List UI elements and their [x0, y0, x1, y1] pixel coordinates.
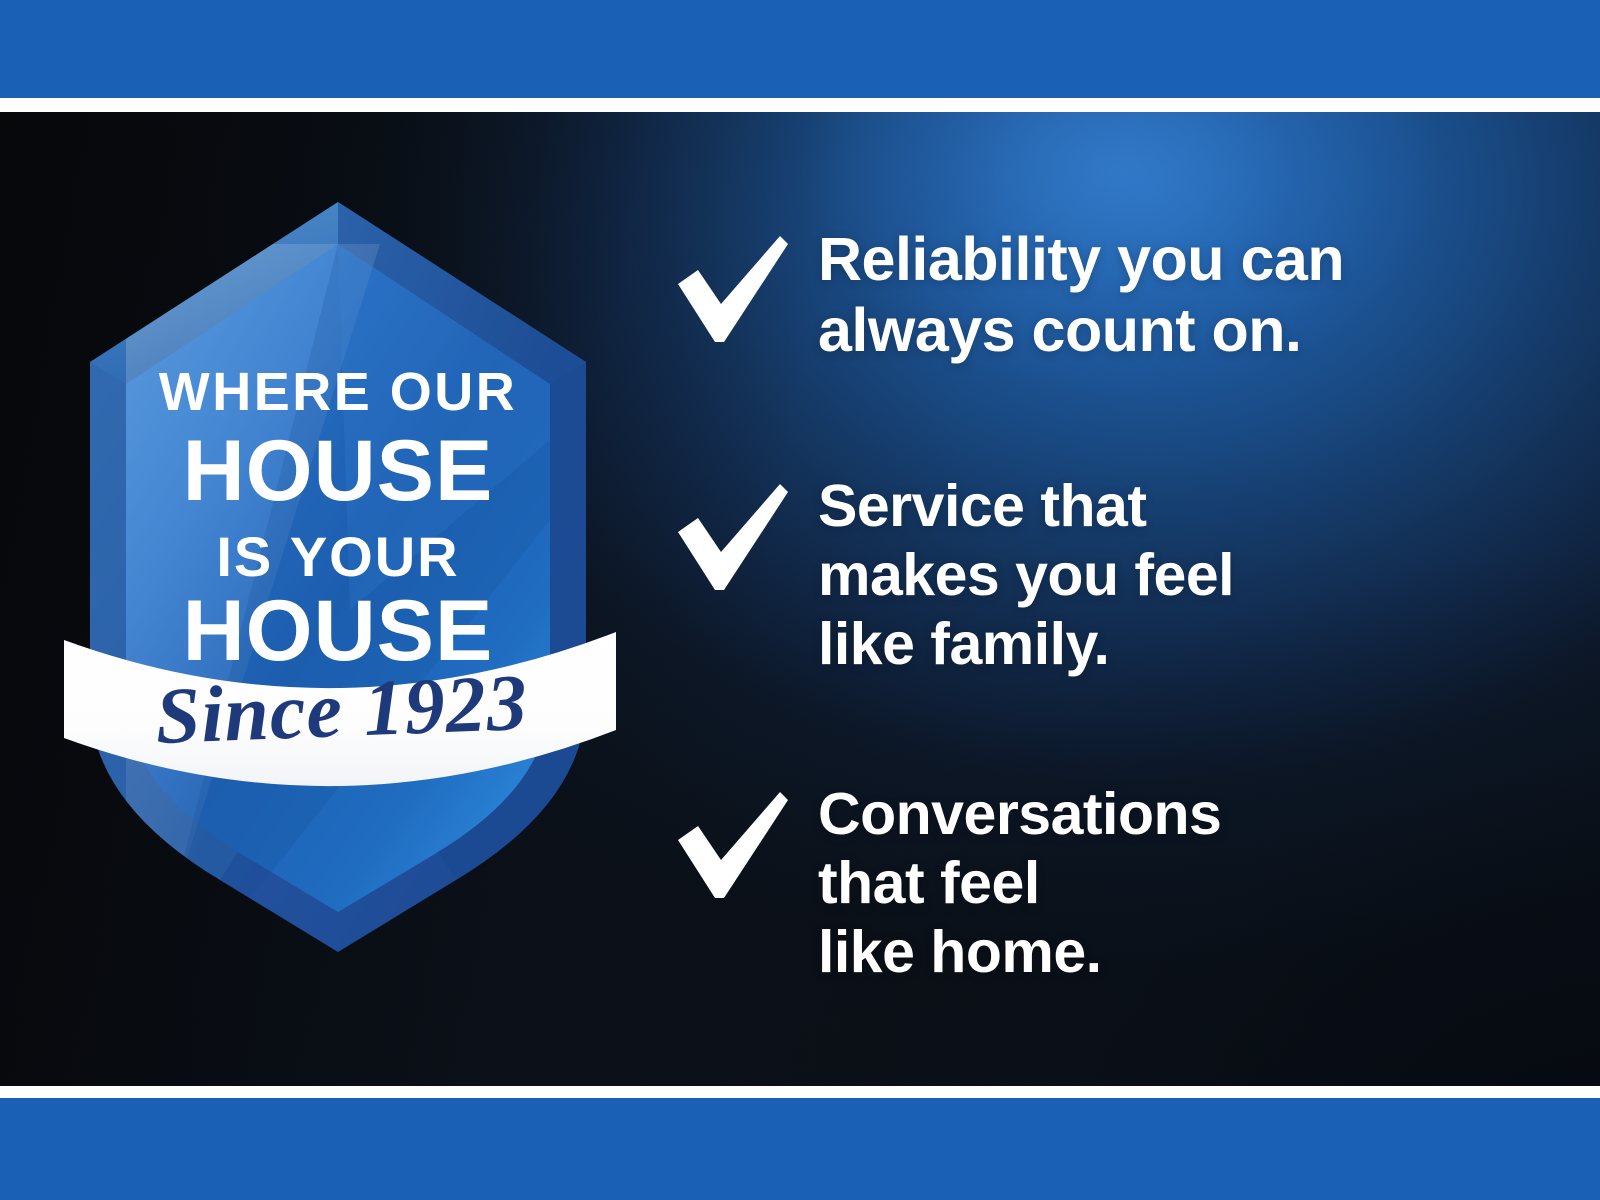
- benefits-list: Reliability you canalways count on. Serv…: [672, 112, 1572, 1086]
- checkmark-icon: [672, 478, 790, 596]
- benefit-text-1: Reliability you canalways count on.: [818, 224, 1344, 367]
- benefit-text-2: Service thatmakes you feellike family.: [818, 472, 1234, 679]
- benefit-item-3: Conversationsthat feellike home.: [672, 780, 1221, 987]
- benefit-item-2: Service thatmakes you feellike family.: [672, 472, 1234, 679]
- ribbon-text: Since 1923: [154, 659, 529, 761]
- benefit-item-1: Reliability you canalways count on.: [672, 224, 1344, 367]
- badge-line-1: WHERE OUR: [159, 362, 518, 422]
- bottom-brand-bar: [0, 1098, 1600, 1200]
- badge-line-3: IS YOUR: [216, 525, 459, 588]
- checkmark-icon: [672, 786, 790, 904]
- brand-shield-logo: WHERE OUR HOUSE IS YOUR HOUSE Since 1923: [50, 140, 650, 840]
- top-brand-bar: [0, 0, 1600, 98]
- benefit-text-3: Conversationsthat feellike home.: [818, 780, 1221, 987]
- promo-graphic: WHERE OUR HOUSE IS YOUR HOUSE Since 1923…: [0, 0, 1600, 1200]
- badge-line-2: HOUSE: [183, 423, 494, 519]
- checkmark-icon: [672, 230, 790, 348]
